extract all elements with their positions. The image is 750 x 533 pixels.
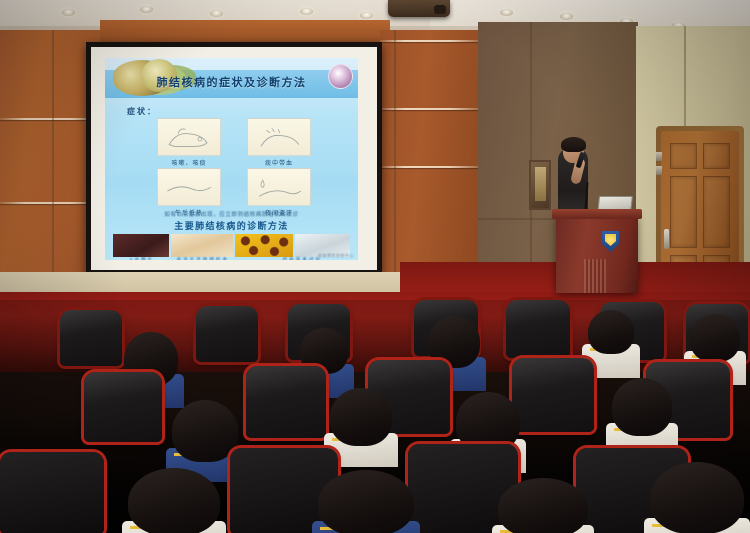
night-sweat-sketch-icon — [252, 173, 306, 202]
auditorium-seat[interactable] — [0, 452, 104, 533]
strip-caption: 痰 涂 片 显 微 镜 检 查 — [171, 257, 233, 260]
seated-student[interactable] — [612, 378, 672, 436]
fever-sketch-icon — [162, 173, 216, 202]
student-audience — [0, 300, 750, 533]
seated-student[interactable] — [588, 310, 634, 354]
recessed-downlight — [300, 8, 313, 15]
auditorium-seat[interactable] — [84, 372, 162, 442]
auditorium-seat[interactable] — [60, 310, 122, 366]
school-crest-icon — [602, 231, 619, 252]
auditorium-scene: 肺结核病的症状及诊断方法 症状： 咳嗽、咳痰 — [0, 0, 750, 533]
podium-fluting — [584, 259, 606, 293]
recessed-downlight — [62, 9, 75, 16]
seated-student[interactable] — [330, 388, 392, 446]
culture-dish-photo — [235, 234, 293, 257]
door-handle-icon[interactable] — [664, 229, 669, 249]
symptom-caption: 痰中带血 — [247, 158, 311, 167]
strip-caption: X 光 胸 片 — [113, 257, 169, 260]
door-hinge-icon — [656, 166, 662, 175]
screen-surface: 肺结核病的症状及诊断方法 症状： 咳嗽、咳痰 — [91, 47, 377, 270]
slide-subtitle: 主要肺结核病的诊断方法 — [105, 219, 358, 232]
wall-picture-frame — [529, 160, 551, 210]
auditorium-seat[interactable] — [512, 358, 594, 432]
podium-top-surface — [552, 209, 642, 219]
recessed-downlight — [500, 9, 513, 16]
symptom-illustration — [157, 118, 221, 156]
recessed-downlight — [210, 10, 223, 17]
door-panel — [670, 176, 697, 248]
symptom-illustration — [247, 118, 311, 156]
seated-student[interactable] — [318, 470, 414, 533]
seated-student[interactable] — [498, 478, 588, 533]
wall-groove — [0, 118, 100, 120]
auditorium-seat[interactable] — [246, 366, 326, 438]
lecture-podium — [556, 215, 638, 293]
recessed-downlight — [360, 12, 373, 19]
seated-student[interactable] — [690, 314, 740, 362]
recessed-downlight — [140, 6, 153, 13]
slide-title: 肺结核病的症状及诊断方法 — [105, 74, 358, 90]
cough-sketch-icon — [162, 123, 216, 152]
symptom-illustration — [247, 168, 311, 206]
slide-section-label: 症状： — [127, 106, 157, 117]
symptom-caption: 咳嗽、咳痰 — [157, 158, 221, 167]
auditorium-seat[interactable] — [196, 306, 258, 362]
xray-photo — [113, 234, 169, 257]
door-panel — [670, 143, 697, 169]
presentation-slide: 肺结核病的症状及诊断方法 症状： 咳嗽、咳痰 — [105, 58, 358, 260]
symptom-illustration — [157, 168, 221, 206]
door-panel — [703, 143, 730, 169]
seated-student[interactable] — [172, 400, 238, 462]
ceiling-projector-icon — [388, 0, 450, 17]
slide-note: 如有以上症状出现，应立即到结核病防治机构就诊 — [105, 210, 358, 218]
sputum-illustration-photo — [171, 234, 233, 257]
presenter-hair — [561, 137, 586, 152]
projection-screen: 肺结核病的症状及诊断方法 症状： 咳嗽、咳痰 — [86, 42, 382, 275]
slide-watermark: 疾病预防控制中心 — [318, 253, 354, 259]
blood-sputum-sketch-icon — [252, 123, 306, 152]
wall-groove — [0, 202, 100, 204]
seated-student[interactable] — [650, 462, 744, 533]
seated-student[interactable] — [456, 392, 520, 452]
door-panel — [703, 176, 730, 248]
recessed-downlight — [560, 13, 573, 20]
door-hinge-icon — [656, 152, 662, 161]
seated-student[interactable] — [128, 468, 220, 533]
auditorium-seat[interactable] — [506, 300, 570, 358]
